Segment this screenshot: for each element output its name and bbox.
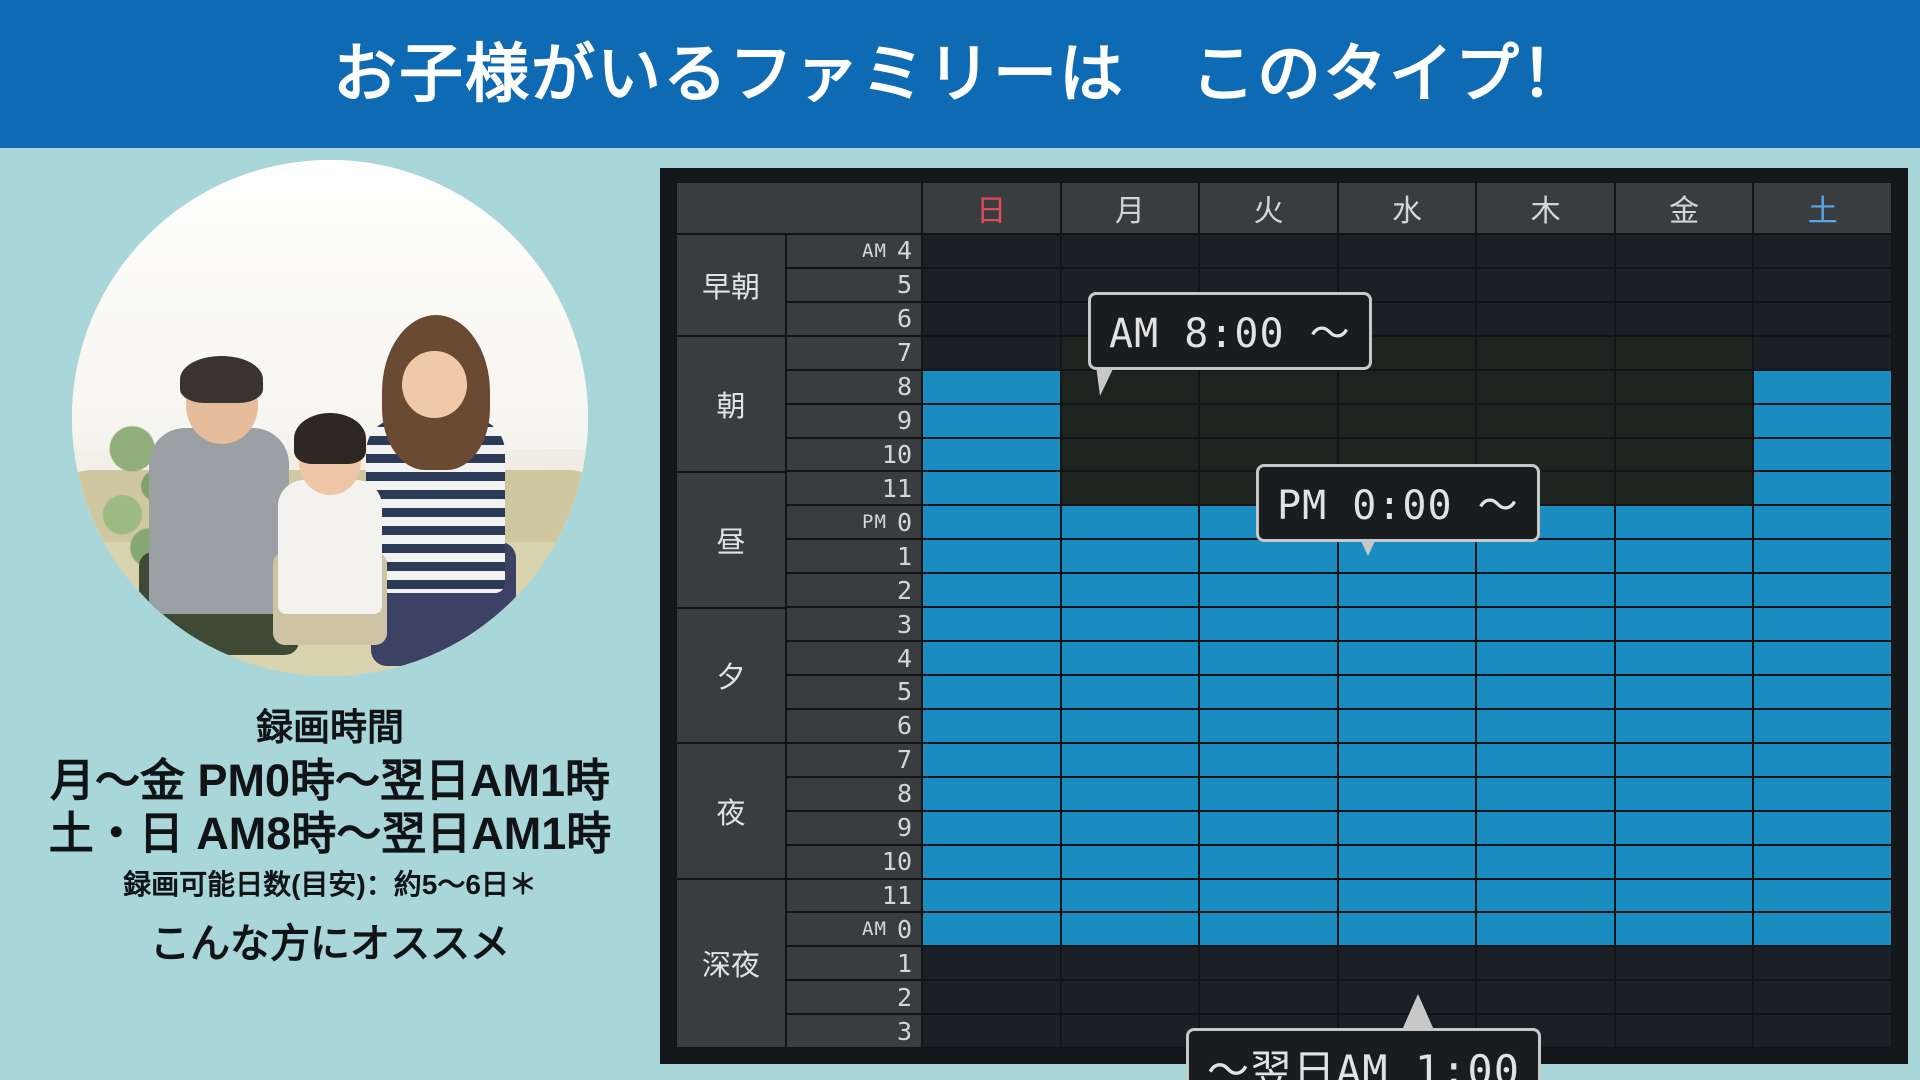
hour-number: 11 — [882, 881, 912, 910]
header-banner: お子様がいるファミリーは このタイプ！ — [0, 0, 1920, 148]
schedule-slot[interactable] — [922, 641, 1061, 675]
schedule-slot[interactable] — [1199, 234, 1338, 268]
schedule-slot[interactable] — [1753, 471, 1892, 505]
schedule-slot[interactable] — [1753, 1014, 1892, 1048]
schedule-slot[interactable] — [1338, 675, 1477, 709]
hour-label-0: AM4 — [786, 234, 922, 268]
schedule-slot[interactable] — [1061, 234, 1200, 268]
schedule-slot[interactable] — [922, 879, 1061, 913]
schedule-slot[interactable] — [1476, 912, 1615, 946]
schedule-slot[interactable] — [1338, 879, 1477, 913]
schedule-slot[interactable] — [1615, 404, 1754, 438]
schedule-slot[interactable] — [1061, 539, 1200, 573]
schedule-slot[interactable] — [922, 845, 1061, 879]
schedule-slot[interactable] — [1061, 1014, 1200, 1048]
schedule-slot[interactable] — [1753, 845, 1892, 879]
schedule-slot[interactable] — [1199, 573, 1338, 607]
schedule-slot[interactable] — [922, 234, 1061, 268]
schedule-slot[interactable] — [1476, 879, 1615, 913]
schedule-slot[interactable] — [1753, 505, 1892, 539]
schedule-slot[interactable] — [1338, 743, 1477, 777]
hour-label-16: 8 — [786, 777, 922, 811]
schedule-slot[interactable] — [1476, 539, 1615, 573]
schedule-slot[interactable] — [1753, 675, 1892, 709]
hour-number: 3 — [897, 610, 912, 639]
schedule-slot[interactable] — [1615, 879, 1754, 913]
schedule-slot[interactable] — [1338, 912, 1477, 946]
hour-label-3: 7 — [786, 336, 922, 370]
schedule-slot[interactable] — [922, 539, 1061, 573]
schedule-slot[interactable] — [1615, 302, 1754, 336]
schedule-slot[interactable] — [1753, 641, 1892, 675]
schedule-slot[interactable] — [1199, 370, 1338, 404]
ampm-marker: AM — [862, 918, 887, 940]
day-header-wd-4[interactable]: 木 — [1476, 182, 1615, 234]
schedule-slot[interactable] — [922, 709, 1061, 743]
schedule-slot[interactable] — [1199, 879, 1338, 913]
schedule-slot[interactable] — [1199, 539, 1338, 573]
hour-number: 1 — [897, 949, 912, 978]
schedule-slot[interactable] — [1338, 607, 1477, 641]
page-title: お子様がいるファミリーは このタイプ！ — [333, 42, 1587, 106]
hour-label-11: 3 — [786, 607, 922, 641]
recording-info-block: 録画時間 月〜金 PM0時〜翌日AM1時 土・日 AM8時〜翌日AM1時 録画可… — [0, 706, 660, 968]
hour-number: 6 — [897, 711, 912, 740]
schedule-slot[interactable] — [922, 404, 1061, 438]
hour-number: 1 — [897, 542, 912, 571]
schedule-slot[interactable] — [1199, 743, 1338, 777]
schedule-slot[interactable] — [922, 675, 1061, 709]
family-photo — [72, 160, 588, 676]
hour-number: 2 — [897, 576, 912, 605]
schedule-slot[interactable] — [1061, 743, 1200, 777]
hour-label-6: 10 — [786, 438, 922, 472]
hour-label-12: 4 — [786, 641, 922, 675]
schedule-slot[interactable] — [922, 573, 1061, 607]
schedule-slot[interactable] — [1199, 404, 1338, 438]
hour-label-22: 2 — [786, 980, 922, 1014]
schedule-slot[interactable] — [1615, 777, 1754, 811]
schedule-slot[interactable] — [1061, 777, 1200, 811]
schedule-slot[interactable] — [1061, 946, 1200, 980]
hour-number: 7 — [897, 745, 912, 774]
left-info-panel: 録画時間 月〜金 PM0時〜翌日AM1時 土・日 AM8時〜翌日AM1時 録画可… — [0, 148, 660, 1080]
hour-label-2: 6 — [786, 302, 922, 336]
schedule-slot[interactable] — [1615, 234, 1754, 268]
schedule-slot[interactable] — [922, 302, 1061, 336]
schedule-slot[interactable] — [1199, 641, 1338, 675]
day-column-土 — [1753, 234, 1892, 1048]
hour-label-15: 7 — [786, 743, 922, 777]
schedule-slot[interactable] — [1476, 980, 1615, 1014]
hour-number: 11 — [882, 474, 912, 503]
schedule-slot[interactable] — [1199, 709, 1338, 743]
schedule-header-row: 日月火水木金土 — [676, 182, 1892, 234]
schedule-slot[interactable] — [1338, 946, 1477, 980]
schedule-slot[interactable] — [1615, 709, 1754, 743]
day-header-wd-1[interactable]: 月 — [1061, 182, 1200, 234]
schedule-slot[interactable] — [1615, 743, 1754, 777]
schedule-slot[interactable] — [1615, 471, 1754, 505]
schedule-slot[interactable] — [1615, 641, 1754, 675]
schedule-slot[interactable] — [1199, 980, 1338, 1014]
schedule-slot[interactable] — [1061, 709, 1200, 743]
hour-label-20: AM0 — [786, 912, 922, 946]
hour-label-1: 5 — [786, 268, 922, 302]
schedule-slot[interactable] — [1061, 370, 1200, 404]
callout-arrow-am1 — [1402, 994, 1434, 1030]
callout-am1-end: 〜翌日AM 1:00 — [1186, 1028, 1541, 1080]
schedule-slot[interactable] — [1061, 912, 1200, 946]
schedule-slot[interactable] — [1753, 573, 1892, 607]
photo-father-hair — [180, 356, 263, 402]
schedule-slot[interactable] — [1476, 811, 1615, 845]
content-area: 録画時間 月〜金 PM0時〜翌日AM1時 土・日 AM8時〜翌日AM1時 録画可… — [0, 148, 1920, 1080]
schedule-slot[interactable] — [1753, 912, 1892, 946]
schedule-slot[interactable] — [922, 438, 1061, 472]
schedule-slot[interactable] — [1753, 336, 1892, 370]
schedule-slot[interactable] — [1753, 743, 1892, 777]
schedule-slot[interactable] — [922, 607, 1061, 641]
schedule-slot[interactable] — [1753, 811, 1892, 845]
hour-number: 5 — [897, 677, 912, 706]
schedule-slot[interactable] — [1061, 811, 1200, 845]
period-label-column: 早朝朝昼夕夜深夜 — [676, 234, 786, 1048]
schedule-slot[interactable] — [1476, 370, 1615, 404]
schedule-corner-cell — [676, 182, 922, 234]
hour-label-18: 10 — [786, 845, 922, 879]
day-header-wd-5[interactable]: 金 — [1615, 182, 1754, 234]
schedule-slot[interactable] — [1061, 845, 1200, 879]
schedule-slot[interactable] — [922, 505, 1061, 539]
schedule-slot[interactable] — [1061, 438, 1200, 472]
schedule-slot[interactable] — [922, 777, 1061, 811]
schedule-slot[interactable] — [1615, 336, 1754, 370]
schedule-slot[interactable] — [1753, 302, 1892, 336]
schedule-slot[interactable] — [922, 946, 1061, 980]
schedule-slot[interactable] — [1338, 811, 1477, 845]
schedule-slot[interactable] — [1476, 641, 1615, 675]
schedule-slot[interactable] — [1061, 980, 1200, 1014]
hour-label-5: 9 — [786, 404, 922, 438]
schedule-slot[interactable] — [922, 336, 1061, 370]
callout-pm0-start: PM 0:00 〜 — [1256, 464, 1540, 542]
schedule-slot[interactable] — [922, 1014, 1061, 1048]
hour-number: 6 — [897, 304, 912, 333]
hour-label-17: 9 — [786, 811, 922, 845]
hour-number: 0 — [897, 508, 912, 537]
schedule-slot[interactable] — [1753, 234, 1892, 268]
schedule-slot[interactable] — [1476, 675, 1615, 709]
day-column-木 — [1476, 234, 1615, 1048]
period-label-0: 早朝 — [676, 234, 786, 336]
hour-label-13: 5 — [786, 675, 922, 709]
weekday-schedule-text: 月〜金 PM0時〜翌日AM1時 — [0, 754, 660, 807]
schedule-slot[interactable] — [1338, 573, 1477, 607]
day-header-sat-6[interactable]: 土 — [1753, 182, 1892, 234]
schedule-slot[interactable] — [1061, 879, 1200, 913]
schedule-slot[interactable] — [1615, 438, 1754, 472]
photo-mother-face — [402, 351, 467, 418]
period-label-3: 夕 — [676, 608, 786, 744]
schedule-slot[interactable] — [1338, 641, 1477, 675]
ampm-marker: AM — [862, 240, 887, 262]
hour-label-4: 8 — [786, 370, 922, 404]
hour-number: 0 — [897, 915, 912, 944]
schedule-slot[interactable] — [922, 980, 1061, 1014]
schedule-slot[interactable] — [1615, 845, 1754, 879]
schedule-slot[interactable] — [1615, 573, 1754, 607]
schedule-slot[interactable] — [1476, 709, 1615, 743]
day-header-wd-2[interactable]: 火 — [1199, 182, 1338, 234]
weekly-schedule-grid: 日月火水木金土 早朝朝昼夕夜深夜 AM4567891011PM012345678… — [676, 182, 1892, 1048]
schedule-slot[interactable] — [1615, 505, 1754, 539]
schedule-slot[interactable] — [1199, 777, 1338, 811]
schedule-slot[interactable] — [1338, 370, 1477, 404]
schedule-slot[interactable] — [1753, 539, 1892, 573]
schedule-slot[interactable] — [1338, 777, 1477, 811]
schedule-slot[interactable] — [1615, 370, 1754, 404]
schedule-slot[interactable] — [1199, 607, 1338, 641]
hour-number: 4 — [897, 644, 912, 673]
schedule-slot[interactable] — [1338, 404, 1477, 438]
day-header-sun-0[interactable]: 日 — [922, 182, 1061, 234]
hour-label-23: 3 — [786, 1014, 922, 1048]
day-columns — [922, 234, 1892, 1048]
hour-number: 8 — [897, 372, 912, 401]
schedule-slot[interactable] — [1753, 777, 1892, 811]
weekend-schedule-text: 土・日 AM8時〜翌日AM1時 — [0, 807, 660, 860]
schedule-slot[interactable] — [1753, 980, 1892, 1014]
schedule-slot[interactable] — [1753, 438, 1892, 472]
schedule-slot[interactable] — [1615, 912, 1754, 946]
schedule-slot[interactable] — [1338, 234, 1477, 268]
hour-label-8: PM0 — [786, 505, 922, 539]
photo-child-hair — [294, 413, 366, 465]
callout-am8-start: AM 8:00 〜 — [1088, 292, 1372, 370]
hour-label-10: 2 — [786, 573, 922, 607]
schedule-panel: 日月火水木金土 早朝朝昼夕夜深夜 AM4567891011PM012345678… — [660, 168, 1908, 1064]
schedule-slot[interactable] — [1615, 607, 1754, 641]
schedule-slot[interactable] — [1753, 370, 1892, 404]
schedule-slot[interactable] — [1061, 471, 1200, 505]
schedule-slot[interactable] — [1753, 607, 1892, 641]
ampm-marker: PM — [862, 511, 887, 533]
schedule-slot[interactable] — [1199, 946, 1338, 980]
hour-label-7: 11 — [786, 471, 922, 505]
schedule-slot[interactable] — [1199, 912, 1338, 946]
schedule-slot[interactable] — [1061, 607, 1200, 641]
schedule-slot[interactable] — [1476, 336, 1615, 370]
schedule-slot[interactable] — [1476, 302, 1615, 336]
day-column-金 — [1615, 234, 1754, 1048]
hour-number: 7 — [897, 338, 912, 367]
schedule-slot[interactable] — [1753, 709, 1892, 743]
hour-number: 3 — [897, 1017, 912, 1046]
schedule-slot[interactable] — [1476, 607, 1615, 641]
schedule-slot[interactable] — [1615, 675, 1754, 709]
schedule-slot[interactable] — [1061, 573, 1200, 607]
period-label-4: 夜 — [676, 743, 786, 879]
schedule-slot[interactable] — [1061, 641, 1200, 675]
schedule-slot[interactable] — [922, 912, 1061, 946]
schedule-slot[interactable] — [1476, 777, 1615, 811]
schedule-slot[interactable] — [1476, 845, 1615, 879]
schedule-slot[interactable] — [1199, 811, 1338, 845]
hour-label-21: 1 — [786, 946, 922, 980]
hour-label-9: 1 — [786, 539, 922, 573]
hour-label-14: 6 — [786, 709, 922, 743]
schedule-slot[interactable] — [1615, 811, 1754, 845]
hour-label-19: 11 — [786, 879, 922, 913]
schedule-slot[interactable] — [1753, 879, 1892, 913]
hour-number: 9 — [897, 813, 912, 842]
schedule-slot[interactable] — [922, 471, 1061, 505]
hour-label-column: AM4567891011PM01234567891011AM0123 — [786, 234, 922, 1048]
schedule-slot[interactable] — [1615, 980, 1754, 1014]
schedule-slot[interactable] — [1615, 946, 1754, 980]
photo-father-body — [149, 428, 288, 614]
hour-number: 4 — [897, 236, 912, 265]
schedule-slot[interactable] — [922, 743, 1061, 777]
hour-number: 10 — [882, 440, 912, 469]
schedule-slot[interactable] — [1753, 404, 1892, 438]
schedule-slot[interactable] — [1476, 573, 1615, 607]
recording-time-heading: 録画時間 — [0, 706, 660, 750]
schedule-slot[interactable] — [1199, 675, 1338, 709]
schedule-slot[interactable] — [1476, 268, 1615, 302]
schedule-slot[interactable] — [1061, 404, 1200, 438]
schedule-slot[interactable] — [1338, 709, 1477, 743]
hour-number: 9 — [897, 406, 912, 435]
schedule-slot[interactable] — [1615, 268, 1754, 302]
schedule-slot[interactable] — [1753, 946, 1892, 980]
period-label-5: 深夜 — [676, 879, 786, 1048]
hour-number: 2 — [897, 983, 912, 1012]
schedule-slot[interactable] — [1061, 505, 1200, 539]
schedule-slot[interactable] — [1476, 404, 1615, 438]
schedule-slot[interactable] — [922, 370, 1061, 404]
hour-number: 5 — [897, 270, 912, 299]
schedule-slot[interactable] — [1061, 675, 1200, 709]
schedule-slot[interactable] — [1476, 946, 1615, 980]
schedule-slot[interactable] — [1199, 845, 1338, 879]
schedule-slot[interactable] — [1615, 1014, 1754, 1048]
schedule-slot[interactable] — [1476, 743, 1615, 777]
recordable-days-note: 録画可能日数(目安)：約5〜6日＊ — [0, 868, 660, 901]
day-column-日 — [922, 234, 1061, 1048]
schedule-slot[interactable] — [922, 268, 1061, 302]
schedule-slot[interactable] — [1476, 234, 1615, 268]
hour-number: 10 — [882, 847, 912, 876]
schedule-slot[interactable] — [922, 811, 1061, 845]
recommendation-label: こんな方にオススメ — [0, 921, 660, 968]
period-label-2: 昼 — [676, 472, 786, 608]
schedule-slot[interactable] — [1615, 539, 1754, 573]
period-label-1: 朝 — [676, 336, 786, 472]
schedule-slot[interactable] — [1753, 268, 1892, 302]
hour-number: 8 — [897, 779, 912, 808]
photo-child-body — [278, 480, 381, 614]
schedule-slot[interactable] — [1338, 845, 1477, 879]
day-header-wd-3[interactable]: 水 — [1338, 182, 1477, 234]
